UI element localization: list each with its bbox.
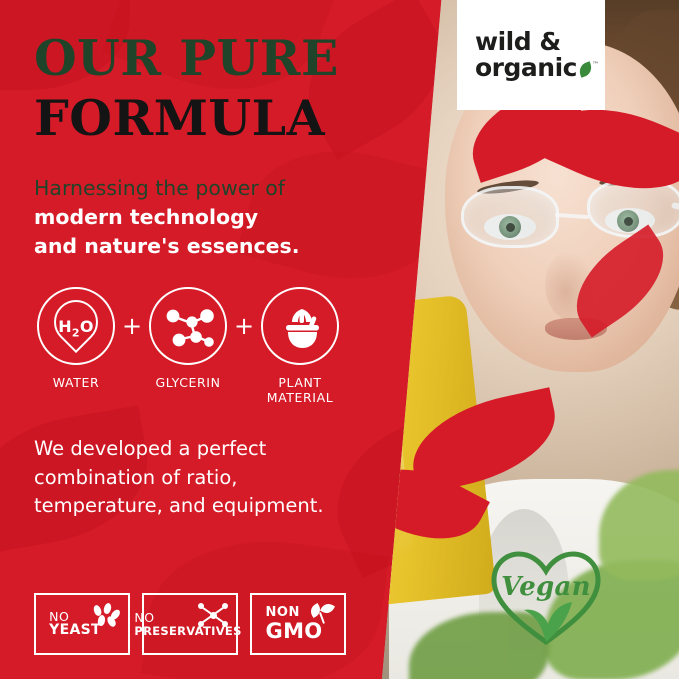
- formula-o: O: [80, 317, 94, 336]
- water-formula: H2O: [39, 317, 113, 339]
- ingredients-row: H2O WATER +: [34, 287, 394, 405]
- ingredient-label-plant-material: PLANT MATERIAL: [258, 375, 342, 405]
- ingredient-label-glycerin: GLYCERIN: [146, 375, 230, 390]
- product-infographic: wild & organic™ OUR PURE FORMULA Harness…: [0, 0, 679, 679]
- content-column: OUR PURE FORMULA Harnessing the power of…: [0, 0, 420, 679]
- brand-name-organic: organic: [475, 53, 577, 82]
- plus-operator: +: [230, 287, 258, 365]
- subheadline-line3: and nature's essences.: [34, 232, 394, 261]
- body-line3: temperature, and equipment.: [34, 492, 394, 520]
- vegan-label: Vegan: [482, 572, 610, 602]
- body-line1: We developed a perfect: [34, 435, 394, 463]
- ingredient-plant-material: PLANT MATERIAL: [258, 287, 342, 405]
- ingredient-water: H2O WATER: [34, 287, 118, 390]
- headline-line2: FORMULA: [34, 94, 394, 144]
- safety-glasses-lens: [461, 186, 559, 248]
- brand-logo-line2: organic™: [475, 55, 605, 81]
- subheadline: Harnessing the power of modern technolog…: [34, 174, 394, 261]
- brand-logo-line1: wild &: [475, 29, 605, 55]
- water-circle: H2O: [37, 287, 115, 365]
- subheadline-line2: modern technology: [34, 203, 394, 232]
- plant-material-circle: [261, 287, 339, 365]
- subheadline-line1: Harnessing the power of: [34, 174, 394, 203]
- vegan-badge[interactable]: Vegan: [482, 538, 610, 656]
- brand-name-wild: wild &: [475, 27, 561, 56]
- headline-line1: OUR PURE: [34, 34, 394, 84]
- plus-operator: +: [118, 287, 146, 365]
- brand-logo[interactable]: wild & organic™: [457, 0, 605, 110]
- body-line2: combination of ratio,: [34, 464, 394, 492]
- formula-h: H: [58, 317, 72, 336]
- ingredient-label-water: WATER: [34, 375, 118, 390]
- ingredient-glycerin: GLYCERIN: [146, 287, 230, 390]
- formula-2: 2: [72, 327, 80, 340]
- mortar-pestle-icon: [263, 289, 341, 367]
- trademark-symbol: ™: [592, 61, 599, 69]
- molecule-icon: [151, 289, 229, 367]
- body-paragraph: We developed a perfect combination of ra…: [34, 435, 394, 520]
- glycerin-circle: [149, 287, 227, 365]
